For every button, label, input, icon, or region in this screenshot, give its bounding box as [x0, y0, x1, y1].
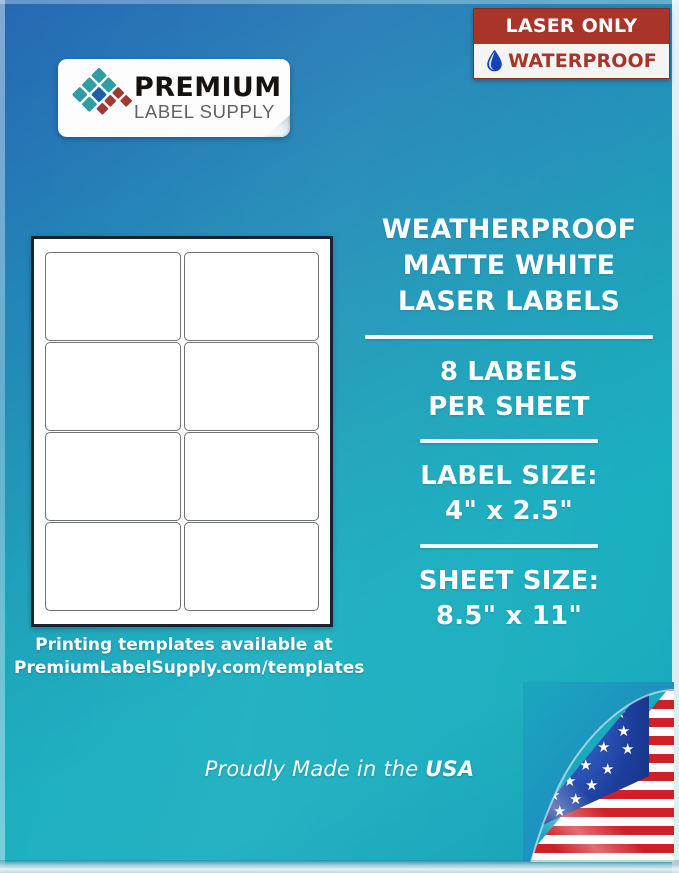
spec-3-line-1: SHEET SIZE:	[356, 564, 662, 599]
headline-line-3: LASER LABELS	[356, 284, 662, 320]
badge-waterproof-row: WATERPROOF	[474, 44, 669, 78]
template-note-line-1: Printing templates available at	[14, 634, 354, 657]
spec-3-line-2: 8.5" x 11"	[356, 599, 662, 634]
package-left-edge	[0, 0, 5, 873]
package-bottom-edge	[0, 860, 679, 873]
label-cell	[45, 252, 181, 341]
spec-2-line-2: 4" x 2.5"	[356, 494, 662, 529]
printing-template-note: Printing templates available at PremiumL…	[14, 634, 354, 681]
tagline-prefix: Proudly Made in the	[205, 757, 426, 781]
label-cell	[184, 432, 320, 521]
divider-1	[365, 335, 653, 339]
product-badge: LASER ONLY WATERPROOF	[473, 8, 670, 79]
water-droplet-icon	[486, 49, 503, 72]
template-note-line-2: PremiumLabelSupply.com/templates	[14, 657, 354, 680]
spec-labels-per-sheet: 8 LABELS PER SHEET	[356, 355, 662, 425]
label-cell	[184, 252, 320, 341]
spec-2-line-1: LABEL SIZE:	[356, 459, 662, 494]
headline-line-1: WEATHERPROOF	[356, 212, 662, 248]
spec-1-line-2: PER SHEET	[356, 390, 662, 425]
label-cell	[184, 522, 320, 611]
divider-2	[420, 439, 598, 443]
badge-laser-only-label: LASER ONLY	[474, 9, 669, 44]
spec-1-line-1: 8 LABELS	[356, 355, 662, 390]
headline-line-2: MATTE WHITE	[356, 248, 662, 284]
brand-logo-wordmark: PREMIUM LABEL SUPPLY	[134, 74, 282, 122]
spec-label-size: LABEL SIZE: 4" x 2.5"	[356, 459, 662, 529]
brand-logo-card: PREMIUM LABEL SUPPLY	[58, 59, 290, 137]
brand-name-secondary: LABEL SUPPLY	[134, 103, 282, 122]
product-headline: WEATHERPROOF MATTE WHITE LASER LABELS	[356, 212, 662, 320]
tagline-emphasis: USA	[425, 757, 474, 781]
label-grid	[45, 252, 319, 611]
divider-3	[420, 544, 598, 548]
label-sheet-preview	[31, 236, 333, 627]
label-cell	[184, 342, 320, 431]
package-top-edge	[0, 0, 679, 4]
spec-sheet-size: SHEET SIZE: 8.5" x 11"	[356, 564, 662, 634]
premium-label-supply-logo-icon	[66, 65, 132, 131]
usa-flag-peel-corner-icon: ★ ★ ★ ★ ★ ★ ★ ★ ★ ★ ★ ★ ★ ★ ★ ★ ★ ★ ★ ★ …	[523, 682, 674, 862]
label-cell	[45, 432, 181, 521]
product-details-column: WEATHERPROOF MATTE WHITE LASER LABELS 8 …	[356, 212, 662, 634]
label-cell	[45, 522, 181, 611]
label-cell	[45, 342, 181, 431]
badge-waterproof-label: WATERPROOF	[508, 50, 657, 72]
brand-name-primary: PREMIUM	[134, 74, 282, 101]
product-package-image: PREMIUM LABEL SUPPLY LASER ONLY WATERPRO…	[0, 0, 679, 873]
